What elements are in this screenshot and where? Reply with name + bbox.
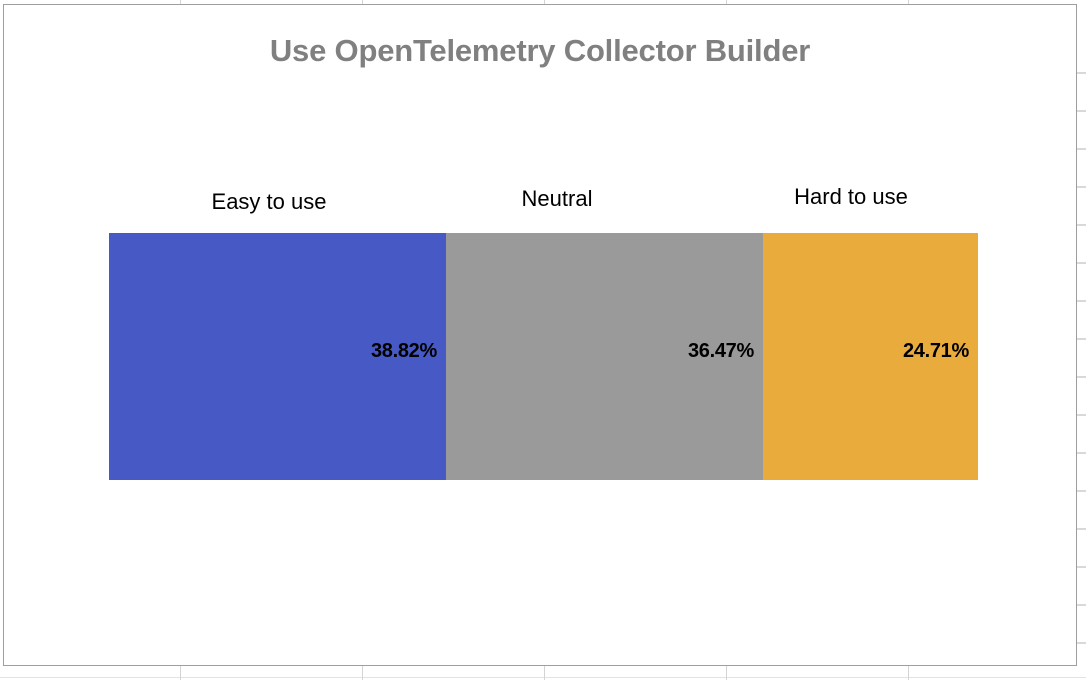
bar-segment-neutral[interactable]: 36.47% [446, 233, 763, 480]
chart-frame[interactable]: Use OpenTelemetry Collector Builder Easy… [3, 4, 1077, 666]
gridline-tick [908, 666, 909, 680]
stacked-bar: 38.82% 36.47% 24.71% [109, 233, 978, 480]
chart-title: Use OpenTelemetry Collector Builder [4, 33, 1076, 69]
gridline-tick [544, 666, 545, 680]
bar-segment-easy-to-use[interactable]: 38.82% [109, 233, 446, 480]
category-label-hard-to-use: Hard to use [794, 183, 908, 211]
category-labels: Easy to use Neutral Hard to use [109, 175, 978, 233]
gridline-tick [180, 666, 181, 680]
gridline-rule [0, 677, 1086, 678]
bar-value-label-easy-to-use: 38.82% [371, 340, 437, 363]
gridline-tick [362, 666, 363, 680]
category-label-easy-to-use: Easy to use [212, 188, 327, 216]
spreadsheet-column-gridlines-bottom [0, 666, 1086, 680]
bar-value-label-hard-to-use: 24.71% [903, 340, 969, 363]
category-label-neutral: Neutral [522, 185, 593, 213]
bar-segment-hard-to-use[interactable]: 24.71% [763, 233, 978, 480]
plot-area: Easy to use Neutral Hard to use 38.82% 3… [109, 175, 978, 480]
gridline-tick [726, 666, 727, 680]
chart-screenshot: Use OpenTelemetry Collector Builder Easy… [0, 0, 1086, 680]
bar-value-label-neutral: 36.47% [688, 340, 754, 363]
